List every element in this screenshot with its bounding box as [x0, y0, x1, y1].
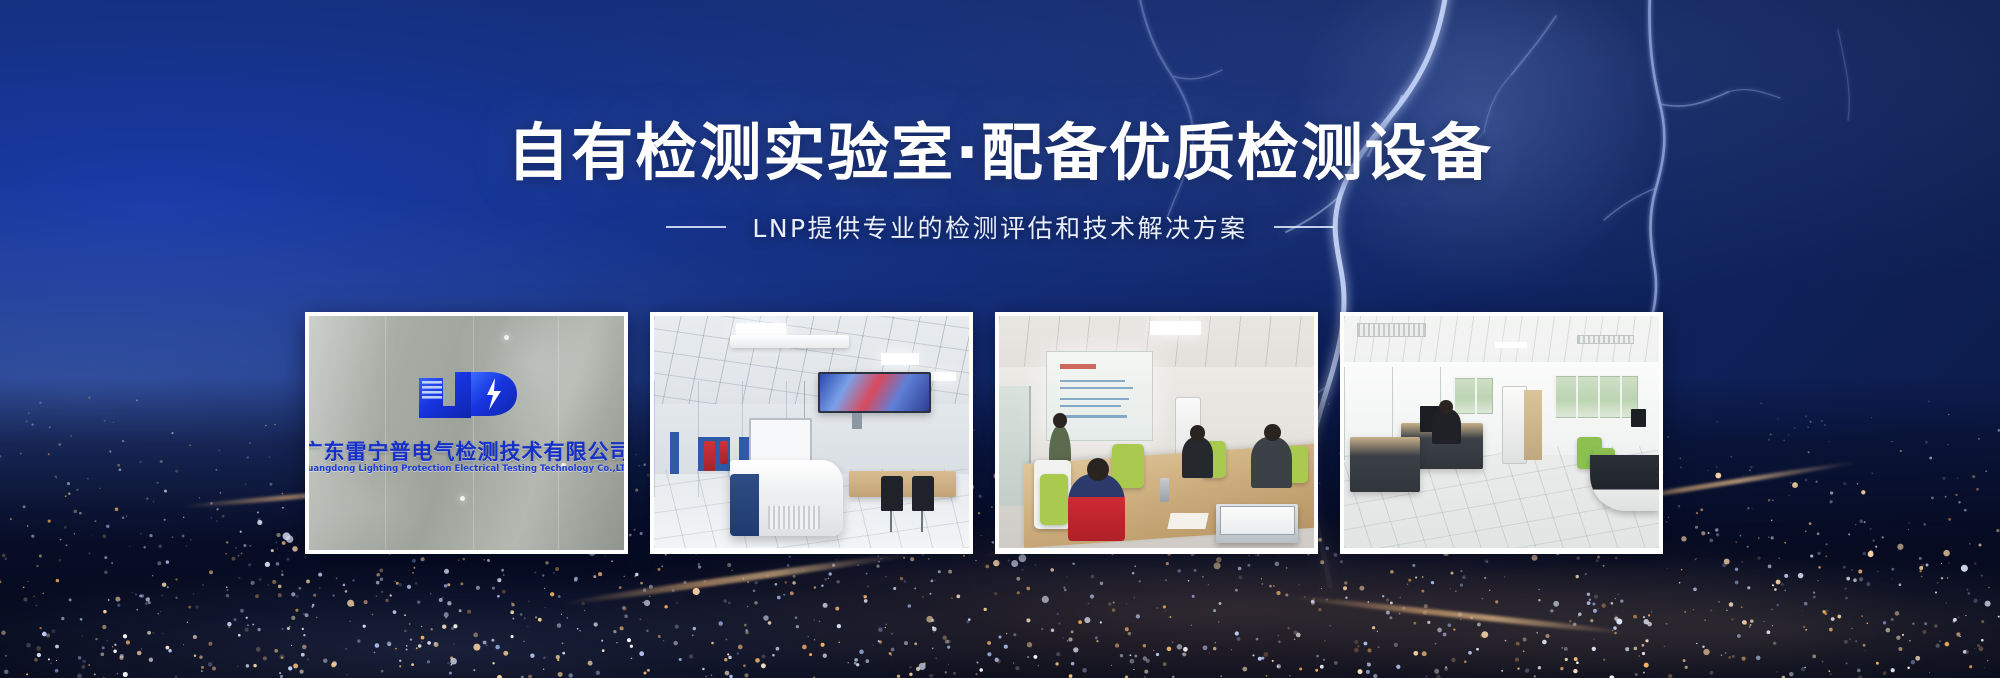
- office-chair: [881, 476, 903, 511]
- gallery-item-office[interactable]: [1340, 312, 1663, 554]
- slide-text-line: [1060, 415, 1127, 417]
- slide-text-line: [1060, 380, 1125, 382]
- photo-meeting-room: [999, 316, 1314, 548]
- hero-copy: 自有检测实验室·配备优质检测设备 LNP提供专业的检测评估和技术解决方案: [0, 118, 2000, 245]
- laptop: [1216, 504, 1298, 543]
- page-title: 自有检测实验室·配备优质检测设备: [0, 118, 2000, 187]
- gallery-item-testing-laboratory[interactable]: [650, 312, 973, 554]
- console-desktop: [730, 335, 850, 349]
- company-name-cn: 广东雷宁普电气检测技术有限公司: [309, 436, 624, 466]
- laptop-screen: [1220, 506, 1295, 535]
- work-desk: [1350, 437, 1419, 493]
- photo-office: [1344, 316, 1659, 548]
- wall-display-screen: [818, 372, 931, 414]
- subtitle-row: LNP提供专业的检测评估和技术解决方案: [0, 209, 2000, 245]
- office-worker-head: [1439, 400, 1453, 415]
- ceiling-vent: [1577, 335, 1634, 344]
- slide-text-line: [1060, 387, 1134, 389]
- office-worker: [1432, 409, 1460, 444]
- attendee-head: [1264, 424, 1281, 442]
- wall-seam: [385, 316, 386, 550]
- page-subtitle: LNP提供专业的检测评估和技术解决方案: [752, 209, 1247, 245]
- gallery-item-meeting-room[interactable]: [995, 312, 1318, 554]
- ceiling-light: [1495, 342, 1527, 349]
- attendee-head: [1087, 458, 1109, 481]
- test-equipment-bushing: [704, 441, 715, 471]
- display-mount: [852, 413, 862, 429]
- thermos-cup: [1160, 478, 1169, 501]
- control-console: [730, 460, 843, 537]
- slide-heading: [1060, 364, 1096, 368]
- lnp-logo-icon: [413, 366, 521, 424]
- test-equipment-bushing: [720, 441, 728, 464]
- photo-laboratory: [654, 316, 969, 548]
- divider-rule-left: [666, 226, 726, 228]
- attendee-person: [1251, 437, 1292, 488]
- documents: [1167, 513, 1208, 529]
- wall-sheen: [309, 316, 624, 550]
- bookshelf: [1524, 390, 1543, 460]
- company-name-en: Guangdong Lighting Protection Electrical…: [309, 463, 624, 473]
- slide-text-line: [1060, 398, 1129, 400]
- photo-company-sign: 广东雷宁普电气检测技术有限公司 Guangdong Lighting Prote…: [309, 316, 624, 550]
- meeting-chair: [1040, 474, 1068, 525]
- reception-monitor: [1631, 409, 1647, 428]
- wall-seam: [473, 316, 474, 550]
- ceiling-light: [1150, 321, 1200, 335]
- test-equipment-column: [670, 432, 679, 474]
- hero-banner: 自有检测实验室·配备优质检测设备 LNP提供专业的检测评估和技术解决方案: [0, 0, 2000, 678]
- slide-text-line: [1060, 405, 1121, 407]
- window: [1552, 374, 1640, 420]
- attendee-person: [1068, 474, 1125, 541]
- ceiling-vent: [1357, 323, 1426, 337]
- workstation-desk: [849, 471, 956, 497]
- photo-gallery: 广东雷宁普电气检测技术有限公司 Guangdong Lighting Prote…: [305, 312, 1663, 554]
- window: [1451, 376, 1495, 415]
- attendee-person: [1182, 437, 1214, 479]
- operator-monitor: [749, 418, 812, 462]
- divider-rule-right: [1274, 226, 1334, 228]
- gallery-item-company-signboard[interactable]: 广东雷宁普电气检测技术有限公司 Guangdong Lighting Prote…: [305, 312, 628, 554]
- office-chair: [912, 476, 934, 511]
- wall-seam: [558, 316, 559, 550]
- console-side-panel: [730, 474, 759, 537]
- console-vents: [768, 506, 820, 529]
- ceiling-light: [881, 353, 919, 365]
